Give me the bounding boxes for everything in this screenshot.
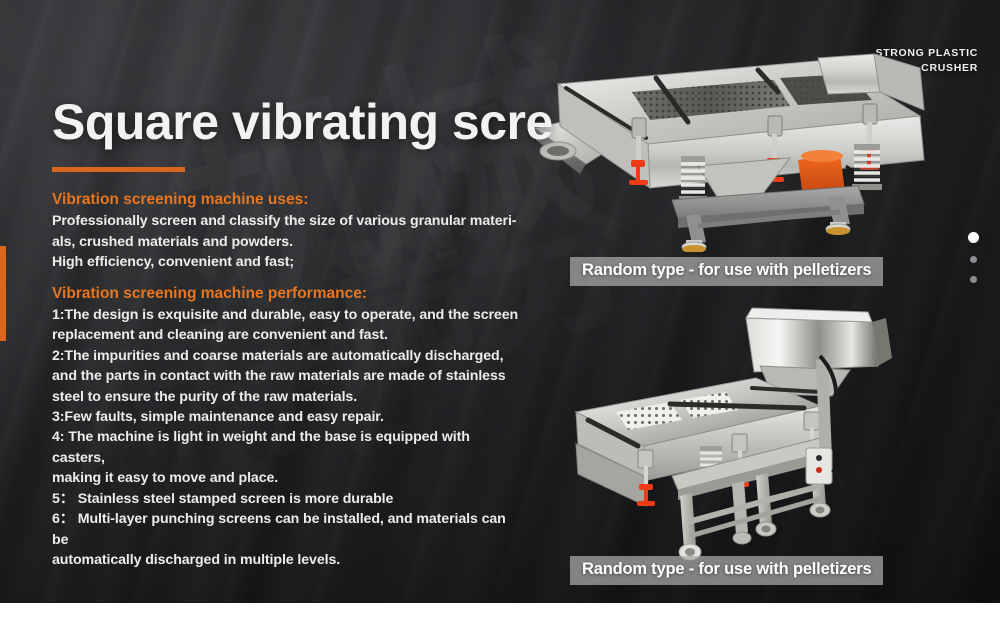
performance-line-8: making it easy to move and place.	[52, 468, 522, 488]
performance-line-1: 1:The design is exquisite and durable, e…	[52, 305, 522, 325]
section-heading-performance: Vibration screening machine performance:	[52, 282, 522, 305]
carousel-dot-3[interactable]	[970, 276, 977, 283]
banner-slide-stage: 机械 筛分 振动 STRONG PLASTIC CRUSHER	[0, 0, 1000, 637]
figure-caption-bottom: Random type - for use with pelletizers	[570, 556, 883, 585]
performance-line-9: 5： Stainless steel stamped screen is mor…	[52, 489, 522, 509]
section-heading-uses: Vibration screening machine uses:	[52, 188, 522, 211]
linear-vibrating-screen-photo	[528, 48, 932, 252]
carousel-pagination[interactable]	[968, 232, 979, 283]
left-edge-accent-bar	[0, 246, 6, 341]
performance-line-2: replacement and cleaning are convenient …	[52, 325, 522, 345]
uses-line-2: als, crushed materials and powders.	[52, 232, 522, 252]
figure-caption-top: Random type - for use with pelletizers	[570, 257, 883, 286]
performance-line-5: steel to ensure the purity of the raw ma…	[52, 387, 522, 407]
performance-line-3: 2:The impurities and coarse materials ar…	[52, 346, 522, 366]
performance-line-6: 3:Few faults, simple maintenance and eas…	[52, 407, 522, 427]
promo-banner: 机械 筛分 振动 STRONG PLASTIC CRUSHER	[0, 0, 1000, 603]
carousel-dot-1[interactable]	[968, 232, 979, 243]
banner-copy-block: Square vibrating scre Vibration screenin…	[52, 96, 522, 571]
performance-line-10: 6： Multi-layer punching screens can be i…	[52, 509, 522, 550]
vibrating-screen-with-hopper-photo	[520, 300, 940, 562]
carousel-dot-2[interactable]	[970, 256, 977, 263]
performance-line-7: 4: The machine is light in weight and th…	[52, 427, 522, 468]
title-underline-rule	[52, 167, 185, 172]
page-title: Square vibrating scre	[52, 96, 522, 149]
page-bottom-whitespace	[0, 603, 1000, 637]
performance-line-4: and the parts in contact with the raw ma…	[52, 366, 522, 386]
uses-line-1: Professionally screen and classify the s…	[52, 211, 522, 231]
performance-line-11: automatically discharged in multiple lev…	[52, 550, 522, 570]
uses-line-3: High efficiency, convenient and fast;	[52, 252, 522, 272]
